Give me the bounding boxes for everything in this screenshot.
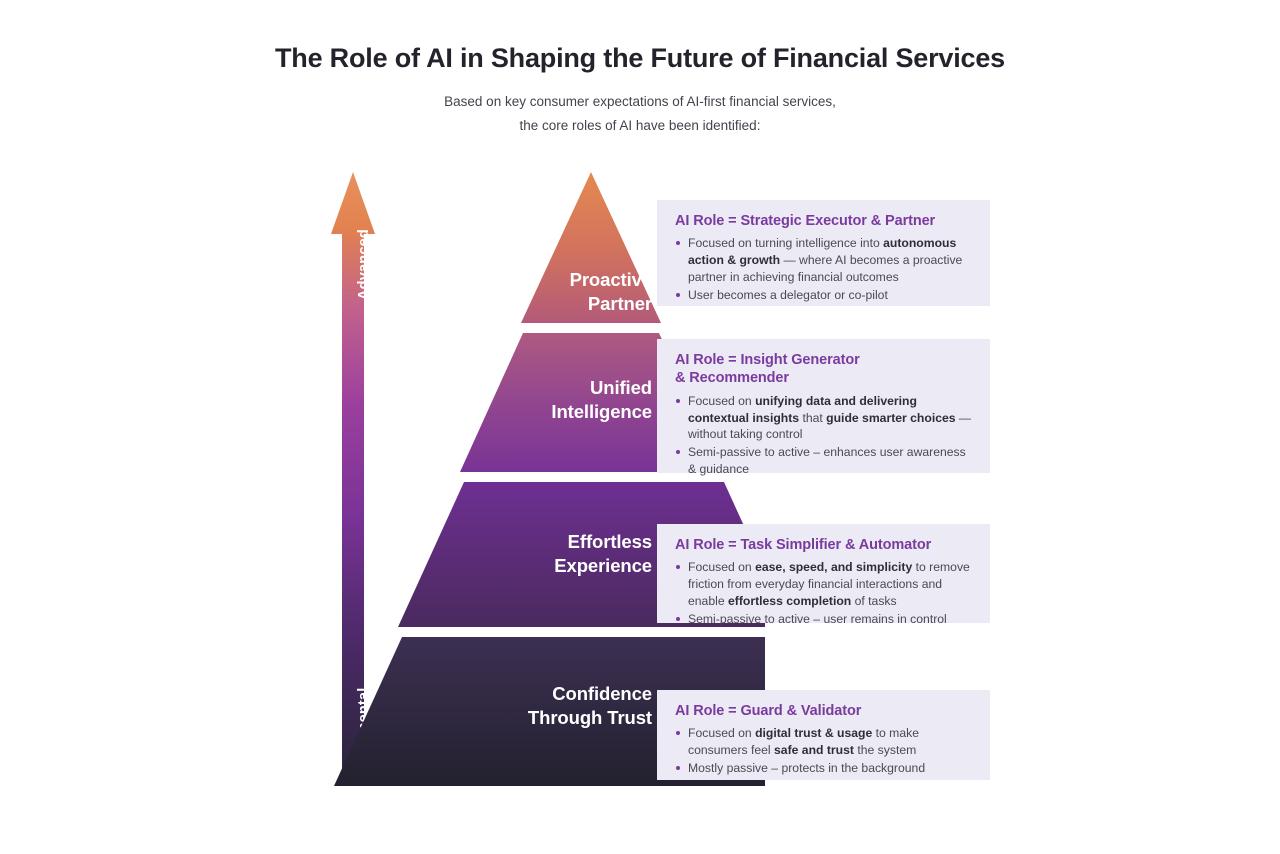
card-bullet: User becomes a delegator or co-pilot — [675, 287, 974, 304]
card-bullet: Semi-passive to active – user remains in… — [675, 611, 974, 628]
page-title: The Role of AI in Shaping the Future of … — [0, 42, 1280, 74]
card-heading: AI Role = Task Simplifier & Automator — [675, 536, 974, 554]
card-bullet: Focused on unifying data and delivering … — [675, 393, 974, 443]
tier-label-unified-intelligence: Unified Intelligence — [420, 376, 652, 423]
tier-label-proactive-partner: Proactive Partner — [420, 268, 652, 315]
subtitle-line-1: Based on key consumer expectations of AI… — [0, 90, 1280, 113]
tier-label-confidence-trust: Confidence Through Trust — [420, 682, 652, 729]
infographic-canvas: The Role of AI in Shaping the Future of … — [0, 0, 1280, 854]
detail-card-unified-intelligence: AI Role = Insight Generator & Recommende… — [657, 339, 990, 473]
card-bullet-list: Focused on ease, speed, and simplicity t… — [675, 559, 974, 627]
subtitle-line-2: the core roles of AI have been identifie… — [0, 114, 1280, 137]
card-bullet: Mostly passive – protects in the backgro… — [675, 760, 974, 777]
card-bullet-list: Focused on digital trust & usage to make… — [675, 725, 974, 776]
card-bullet: Focused on digital trust & usage to make… — [675, 725, 974, 759]
header: The Role of AI in Shaping the Future of … — [0, 42, 1280, 137]
card-bullet: Focused on turning intelligence into aut… — [675, 235, 974, 285]
detail-card-proactive-partner: AI Role = Strategic Executor & Partner F… — [657, 200, 990, 306]
card-bullet: Focused on ease, speed, and simplicity t… — [675, 559, 974, 609]
card-heading: AI Role = Strategic Executor & Partner — [675, 212, 974, 230]
detail-card-confidence-trust: AI Role = Guard & Validator Focused on d… — [657, 690, 990, 780]
card-heading: AI Role = Insight Generator & Recommende… — [675, 351, 974, 388]
card-bullet-list: Focused on turning intelligence into aut… — [675, 235, 974, 303]
card-heading: AI Role = Guard & Validator — [675, 702, 974, 720]
tier-label-effortless-experience: Effortless Experience — [420, 530, 652, 577]
subtitle-block: Based on key consumer expectations of AI… — [0, 90, 1280, 136]
card-bullet-list: Focused on unifying data and delivering … — [675, 393, 974, 478]
detail-card-effortless-experience: AI Role = Task Simplifier & Automator Fo… — [657, 524, 990, 623]
card-bullet: Semi-passive to active – enhances user a… — [675, 444, 974, 478]
